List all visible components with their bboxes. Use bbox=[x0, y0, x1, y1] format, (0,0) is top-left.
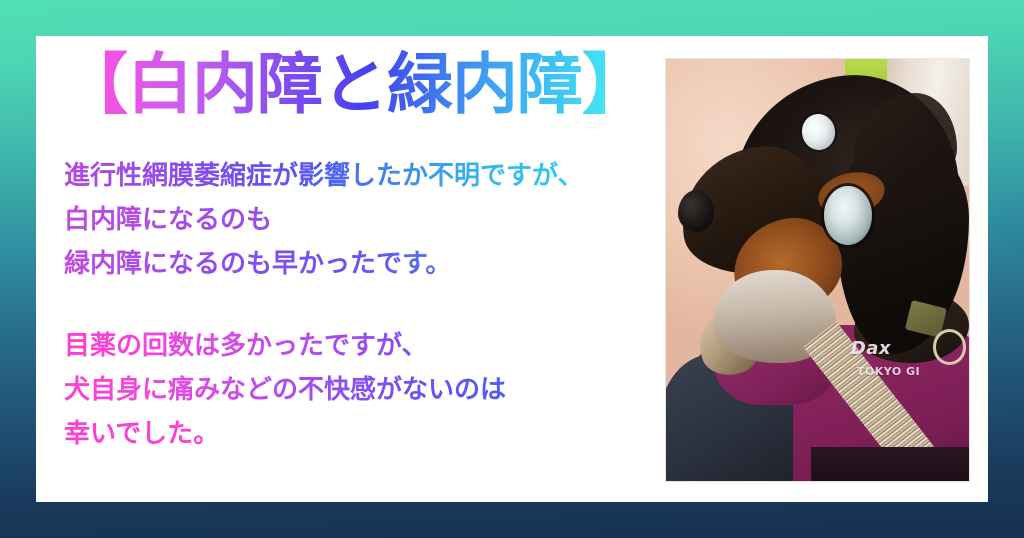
paragraph-two-line-2: 犬自身に痛みなどの不快感がないのは bbox=[64, 368, 506, 412]
photo-frame: Dax TOKYO GI bbox=[665, 58, 970, 482]
page-title: 【白内障と緑内障】 bbox=[62, 50, 647, 119]
paragraph-one: 進行性網膜萎縮症が影響したか不明ですが、 白内障になるのも 緑内障になるのも早か… bbox=[64, 154, 583, 286]
harness-ring bbox=[933, 329, 966, 365]
text-column: 【白内障と緑内障】 進行性網膜萎縮症が影響したか不明ですが、 白内障になるのも … bbox=[54, 36, 664, 502]
slide-canvas: 【白内障と緑内障】 進行性網膜萎縮症が影響したか不明ですが、 白内障になるのも … bbox=[0, 0, 1024, 538]
paragraph-one-line-2: 白内障になるのも bbox=[64, 198, 583, 242]
garment-brand-subtext: TOKYO GI bbox=[857, 365, 920, 378]
paragraph-one-line-3: 緑内障になるのも早かったです。 bbox=[64, 242, 583, 286]
paragraph-one-line-1: 進行性網膜萎縮症が影響したか不明ですが、 bbox=[64, 154, 583, 198]
cloudy-eye-icon-near bbox=[824, 186, 872, 245]
paragraph-two-line-3: 幸いでした。 bbox=[64, 412, 506, 456]
dog-photo: Dax TOKYO GI bbox=[665, 58, 970, 482]
paragraph-two: 目薬の回数は多かったですが、 犬自身に痛みなどの不快感がないのは 幸いでした。 bbox=[64, 324, 506, 456]
photo-bottom-shadow bbox=[811, 447, 970, 482]
paragraph-two-line-1: 目薬の回数は多かったですが、 bbox=[64, 324, 506, 368]
garment-brand-text: Dax bbox=[851, 338, 891, 359]
content-card: 【白内障と緑内障】 進行性網膜萎縮症が影響したか不明ですが、 白内障になるのも … bbox=[36, 36, 988, 502]
